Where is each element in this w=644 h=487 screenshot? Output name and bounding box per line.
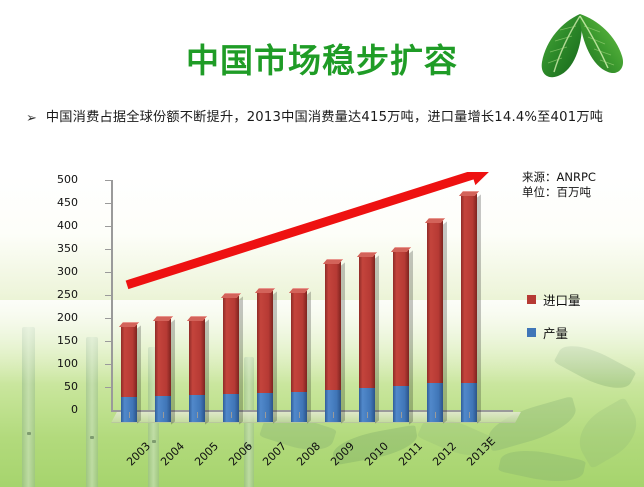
chart-bar bbox=[121, 325, 137, 422]
bullet-arrow-icon: ➢ bbox=[26, 108, 37, 128]
x-axis-tick-mark bbox=[265, 412, 266, 418]
bar-segment-production bbox=[121, 397, 137, 422]
legend-item: 产量 bbox=[527, 323, 581, 342]
chart-bar bbox=[155, 319, 171, 423]
chart-bar bbox=[359, 255, 375, 422]
units-line: 单位：百万吨 bbox=[522, 185, 596, 200]
legend-swatch bbox=[527, 295, 536, 304]
x-axis-tick-mark bbox=[435, 412, 436, 418]
y-axis-tick-label: 100 bbox=[44, 357, 78, 370]
y-axis-tick-mark bbox=[105, 272, 112, 273]
chart-bar bbox=[189, 319, 205, 423]
chart-bar bbox=[427, 221, 443, 422]
bar-segment-import bbox=[155, 319, 171, 396]
bar-side-face bbox=[171, 319, 175, 424]
bar-chart: 500450400350300250200150100500 200320042… bbox=[84, 172, 514, 422]
bullet-paragraph: ➢ 中国消费占据全球份额不断提升，2013中国消费量达415万吨，进口量增长14… bbox=[26, 108, 616, 128]
x-axis-tick-mark bbox=[401, 412, 402, 418]
bar-side-face bbox=[443, 221, 447, 423]
y-axis-tick-mark bbox=[105, 341, 112, 342]
bar-segment-import bbox=[257, 291, 273, 393]
legend-swatch bbox=[527, 328, 536, 337]
x-axis-tick-mark bbox=[129, 412, 130, 418]
y-axis-tick-mark bbox=[105, 364, 112, 365]
legend-label: 进口量 bbox=[543, 290, 581, 309]
bar-segment-import bbox=[291, 291, 307, 392]
y-axis-tick-mark bbox=[105, 226, 112, 227]
legend-item: 进口量 bbox=[527, 290, 581, 309]
chart-bar bbox=[325, 262, 341, 422]
bar-segment-import bbox=[393, 250, 409, 386]
y-axis-tick-label: 200 bbox=[44, 311, 78, 324]
source-line: 来源：ANRPC bbox=[522, 170, 596, 185]
bar-segment-import bbox=[461, 194, 477, 383]
bar-side-face bbox=[307, 291, 311, 423]
bar-segment-production bbox=[155, 396, 171, 422]
chart-source-note: 来源：ANRPC 单位：百万吨 bbox=[522, 170, 596, 200]
chart-bar bbox=[393, 250, 409, 423]
y-axis-tick-mark bbox=[105, 295, 112, 296]
bar-side-face bbox=[137, 326, 141, 424]
y-axis-tick-label: 500 bbox=[44, 173, 78, 186]
slide-canvas: 中国市场稳步扩容 ➢ 中国消费占据全球份额不断提升，2013中国消费量达415万… bbox=[0, 0, 644, 487]
chart-bar bbox=[461, 194, 477, 422]
bar-side-face bbox=[375, 256, 379, 424]
y-axis-tick-label: 250 bbox=[44, 288, 78, 301]
x-axis-tick-mark bbox=[197, 412, 198, 418]
bar-side-face bbox=[205, 319, 209, 424]
legend-label: 产量 bbox=[543, 323, 568, 342]
bar-segment-import bbox=[223, 296, 239, 394]
y-axis-tick-label: 450 bbox=[44, 196, 78, 209]
y-axis-tick-mark bbox=[105, 318, 112, 319]
y-axis-tick-mark bbox=[105, 249, 112, 250]
y-axis-tick-label: 350 bbox=[44, 242, 78, 255]
y-axis-tick-mark bbox=[105, 180, 112, 181]
chart-bar bbox=[257, 291, 273, 422]
x-axis-tick-mark bbox=[231, 412, 232, 418]
y-axis-tick-label: 50 bbox=[44, 380, 78, 393]
bar-segment-import bbox=[427, 221, 443, 383]
bar-segment-import bbox=[189, 319, 205, 396]
chart-legend: 进口量产量 bbox=[527, 290, 581, 356]
page-title: 中国市场稳步扩容 bbox=[0, 34, 644, 82]
x-axis-tick-mark bbox=[299, 412, 300, 418]
x-axis-tick-mark bbox=[163, 412, 164, 418]
bar-side-face bbox=[409, 250, 413, 424]
bar-segment-import bbox=[121, 325, 137, 396]
chart-bar bbox=[223, 296, 239, 423]
y-axis-tick-mark bbox=[105, 387, 112, 388]
bullet-text: 中国消费占据全球份额不断提升，2013中国消费量达415万吨，进口量增长14.4… bbox=[46, 108, 603, 128]
bar-side-face bbox=[273, 291, 277, 423]
y-axis-tick-mark bbox=[105, 203, 112, 204]
x-axis-tick-mark bbox=[367, 412, 368, 418]
y-axis-tick-label: 300 bbox=[44, 265, 78, 278]
bar-segment-import bbox=[359, 255, 375, 387]
bar-side-face bbox=[477, 195, 481, 424]
y-axis-tick-label: 400 bbox=[44, 219, 78, 232]
y-axis-tick-label: 0 bbox=[44, 403, 78, 416]
bar-side-face bbox=[239, 296, 243, 424]
bar-side-face bbox=[341, 263, 345, 424]
y-axis-tick-label: 150 bbox=[44, 334, 78, 347]
x-axis-tick-mark bbox=[469, 412, 470, 418]
chart-bar bbox=[291, 291, 307, 422]
x-axis-tick-mark bbox=[333, 412, 334, 418]
bar-segment-import bbox=[325, 262, 341, 389]
